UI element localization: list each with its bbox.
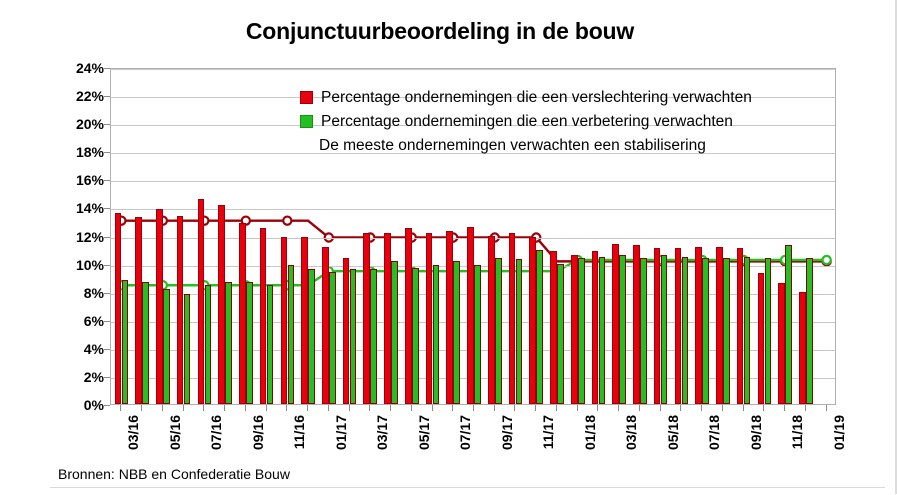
legend-swatch-blank-icon	[300, 140, 311, 151]
bar-verbetering	[640, 258, 647, 404]
x-axis-tick-label: 11/16	[292, 415, 306, 449]
bar-verslechtering	[384, 233, 391, 404]
chart-legend: Percentage ondernemingen die een verslec…	[300, 86, 820, 158]
bar-verslechtering	[778, 283, 785, 404]
x-axis-tick-mark	[722, 405, 723, 411]
bar-verslechtering	[675, 248, 682, 404]
bar-verslechtering	[446, 231, 453, 404]
bar-verslechtering	[301, 237, 308, 404]
legend-swatch-red-icon	[300, 91, 313, 104]
x-axis-tick-mark	[120, 405, 121, 411]
bar-verbetering	[682, 257, 689, 404]
x-axis-tick-label: 01/19	[832, 415, 846, 450]
x-axis-tick-label: 03/18	[624, 415, 638, 450]
bar-verbetering	[246, 282, 253, 404]
bar-verslechtering	[363, 233, 370, 404]
y-axis-tick-mark	[104, 152, 110, 153]
x-axis-tick-mark	[203, 405, 204, 411]
legend-label: Percentage ondernemingen die een verbete…	[321, 113, 733, 130]
x-axis-tick-label: 07/16	[209, 415, 223, 450]
bar-verbetering	[122, 280, 129, 404]
y-axis-tick-mark	[104, 321, 110, 322]
bar-verbetering	[288, 265, 295, 404]
y-axis-tick-label: 12%	[60, 230, 104, 244]
bar-verslechtering	[260, 228, 267, 404]
x-axis-tick-mark	[535, 405, 536, 411]
chart-figure: Conjunctuurbeoordeling in de bouw 0%2%4%…	[0, 0, 897, 494]
bar-verslechtering	[488, 236, 495, 405]
x-axis-tick-label: 01/18	[583, 415, 597, 450]
y-axis-tick-mark	[104, 237, 110, 238]
bar-verslechtering	[654, 248, 661, 404]
x-axis-tick-mark	[349, 405, 350, 411]
bar-verslechtering	[571, 255, 578, 404]
bar-verslechtering	[550, 251, 557, 404]
bar-verslechtering	[467, 227, 474, 404]
bar-verbetering	[329, 272, 336, 404]
bar-verbetering	[599, 257, 606, 404]
bar-verbetering	[765, 258, 772, 404]
bar-verbetering	[267, 285, 274, 404]
bar-verslechtering	[177, 216, 184, 404]
x-axis-tick-mark	[266, 405, 267, 411]
x-axis-tick-mark	[369, 405, 370, 411]
x-axis-tick-mark	[618, 405, 619, 411]
legend-label: De meeste ondernemingen verwachten een s…	[319, 137, 706, 154]
x-axis-tick-mark	[556, 405, 557, 411]
bar-verbetering	[433, 265, 440, 404]
x-axis-tick-mark	[701, 405, 702, 411]
x-axis-tick-mark	[390, 405, 391, 411]
x-axis-tick-mark	[411, 405, 412, 411]
y-axis-tick-label: 16%	[60, 173, 104, 187]
bar-verslechtering	[633, 245, 640, 404]
y-axis-tick-mark	[104, 349, 110, 350]
y-axis-tick-label: 4%	[60, 342, 104, 356]
bar-verbetering	[163, 289, 170, 404]
bar-verslechtering	[716, 247, 723, 404]
bar-verslechtering	[426, 233, 433, 404]
bar-verbetering	[142, 282, 149, 404]
y-axis: 0%2%4%6%8%10%12%14%16%18%20%22%24%	[56, 68, 104, 405]
legend-swatch-green-icon	[300, 115, 313, 128]
bar-verslechtering	[281, 237, 288, 404]
y-axis-tick-mark	[104, 405, 110, 406]
y-axis-tick-label: 24%	[60, 61, 104, 75]
x-axis-tick-mark	[514, 405, 515, 411]
trend-marker	[823, 257, 831, 265]
bar-verbetering	[370, 269, 377, 404]
x-axis-tick-label: 03/16	[126, 415, 140, 450]
bar-verbetering	[495, 258, 502, 404]
x-axis-tick-label: 03/17	[375, 415, 389, 450]
bar-verbetering	[619, 255, 626, 404]
y-axis-tick-mark	[104, 180, 110, 181]
y-axis-tick-label: 20%	[60, 117, 104, 131]
legend-item: Percentage ondernemingen die een verslec…	[300, 86, 820, 108]
bar-verslechtering	[343, 258, 350, 404]
bar-verbetering	[557, 264, 564, 404]
x-axis-tick-label: 11/17	[541, 415, 555, 449]
x-axis-tick-mark	[639, 405, 640, 411]
x-axis-tick-mark	[826, 405, 827, 411]
bar-verslechtering	[239, 223, 246, 404]
x-axis-tick-mark	[328, 405, 329, 411]
legend-item: De meeste ondernemingen verwachten een s…	[300, 134, 820, 156]
x-axis-tick-mark	[784, 405, 785, 411]
bar-verbetering	[350, 269, 357, 404]
y-axis-tick-label: 0%	[60, 398, 104, 412]
bar-verbetering	[184, 294, 191, 404]
source-note: Bronnen: NBB en Confederatie Bouw	[58, 466, 290, 482]
x-axis-tick-label: 09/18	[749, 415, 763, 450]
legend-item: Percentage ondernemingen die een verbete…	[300, 110, 820, 132]
x-axis-tick-mark	[577, 405, 578, 411]
x-axis-tick-mark	[162, 405, 163, 411]
x-axis-tick-mark	[763, 405, 764, 411]
bar-verslechtering	[529, 237, 536, 404]
x-axis-tick-label: 05/18	[666, 415, 680, 450]
x-axis-tick-mark	[473, 405, 474, 411]
bar-verslechtering	[115, 213, 122, 404]
x-axis-tick-mark	[432, 405, 433, 411]
x-axis-tick-mark	[224, 405, 225, 411]
x-axis-tick-mark	[805, 405, 806, 411]
chart-title: Conjunctuurbeoordeling in de bouw	[0, 18, 880, 45]
bar-verslechtering	[758, 273, 765, 404]
x-axis-tick-mark	[494, 405, 495, 411]
bar-verslechtering	[198, 199, 205, 404]
trend-marker	[823, 256, 831, 264]
y-axis-tick-mark	[104, 68, 110, 69]
bar-verslechtering	[405, 228, 412, 404]
bar-verbetering	[723, 258, 730, 404]
x-axis-tick-mark	[660, 405, 661, 411]
y-axis-tick-label: 22%	[60, 89, 104, 103]
x-axis-tick-label: 09/16	[251, 415, 265, 450]
bar-verbetering	[205, 285, 212, 404]
bar-verslechtering	[509, 233, 516, 404]
bar-verbetering	[744, 257, 751, 404]
bar-verslechtering	[322, 247, 329, 404]
x-axis-tick-label: 05/16	[168, 415, 182, 450]
y-axis-tick-mark	[104, 124, 110, 125]
y-axis-tick-mark	[104, 208, 110, 209]
bar-verbetering	[225, 282, 232, 404]
bar-verbetering	[453, 261, 460, 404]
bar-verbetering	[536, 250, 543, 404]
bar-verslechtering	[218, 205, 225, 404]
bar-verbetering	[474, 265, 481, 404]
x-axis-tick-mark	[743, 405, 744, 411]
bar-verbetering	[578, 258, 585, 404]
bar-verslechtering	[592, 251, 599, 404]
legend-label: Percentage ondernemingen die een verslec…	[321, 89, 752, 106]
x-axis-tick-mark	[183, 405, 184, 411]
x-axis-tick-label: 01/17	[334, 415, 348, 450]
gridline	[111, 181, 835, 182]
bar-verslechtering	[135, 217, 142, 404]
y-axis-tick-mark	[104, 377, 110, 378]
bar-verbetering	[412, 268, 419, 404]
bar-verbetering	[702, 258, 709, 404]
x-axis-tick-label: 09/17	[500, 415, 514, 450]
bar-verslechtering	[737, 248, 744, 404]
x-axis-tick-label: 07/17	[458, 415, 472, 450]
bar-verslechtering	[695, 247, 702, 404]
bar-verbetering	[516, 259, 523, 404]
bar-verbetering	[661, 255, 668, 404]
x-axis-tick-label: 11/18	[790, 415, 804, 449]
trend-marker	[283, 217, 291, 225]
y-axis-tick-label: 14%	[60, 201, 104, 215]
x-axis-tick-mark	[307, 405, 308, 411]
bar-verslechtering	[799, 292, 806, 404]
x-axis-tick-mark	[452, 405, 453, 411]
source-divider	[50, 487, 885, 488]
bar-verbetering	[391, 261, 398, 404]
y-axis-tick-label: 6%	[60, 314, 104, 328]
x-axis-tick-mark	[286, 405, 287, 411]
y-axis-tick-mark	[104, 96, 110, 97]
y-axis-tick-label: 18%	[60, 145, 104, 159]
y-axis-tick-mark	[104, 265, 110, 266]
x-axis-tick-label: 05/17	[417, 415, 431, 450]
y-axis-tick-label: 10%	[60, 258, 104, 272]
bar-verslechtering	[612, 244, 619, 404]
x-axis-tick-mark	[680, 405, 681, 411]
x-axis-tick-label: 07/18	[707, 415, 721, 450]
x-axis-tick-mark	[141, 405, 142, 411]
x-axis-tick-mark	[245, 405, 246, 411]
y-axis-tick-label: 8%	[60, 286, 104, 300]
bar-verslechtering	[156, 209, 163, 404]
y-axis-tick-label: 2%	[60, 370, 104, 384]
bar-verbetering	[785, 245, 792, 404]
gridline	[111, 69, 835, 70]
y-axis-tick-mark	[104, 293, 110, 294]
bar-verbetering	[806, 258, 813, 404]
bar-verbetering	[308, 269, 315, 404]
x-axis-tick-mark	[597, 405, 598, 411]
